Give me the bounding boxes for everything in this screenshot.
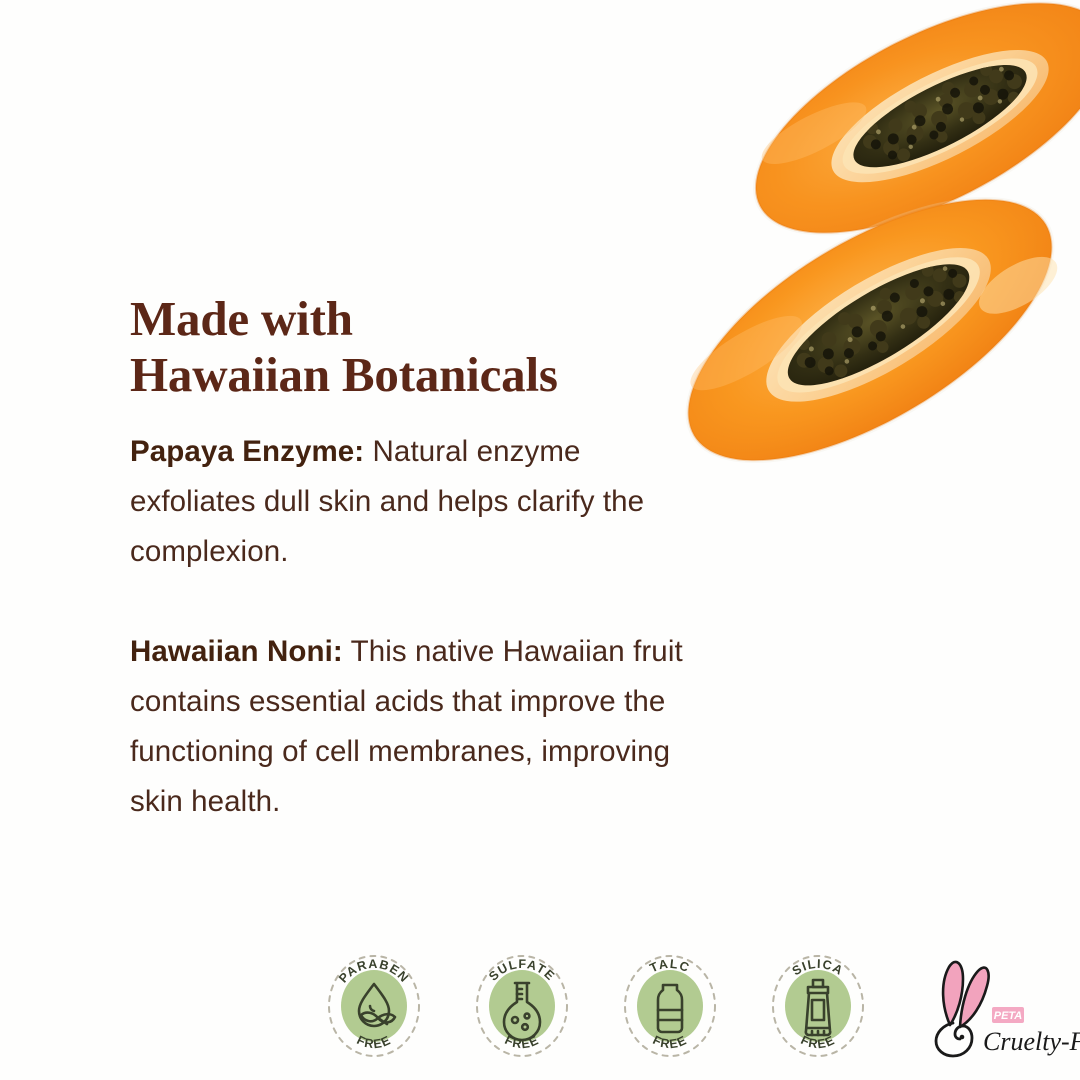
badge-paraben-free: PARABEN FREE [322,944,426,1068]
ingredient-paragraph-noni: Hawaiian Noni: This native Hawaiian frui… [130,627,700,827]
badge-disc [489,970,555,1042]
certification-badge-row: PARABEN FREE [322,944,1080,1068]
bunny-head-icon [936,1023,972,1056]
ingredient-lead-noni: Hawaiian Noni: [130,635,343,668]
headline-line-1: Made with [130,291,730,347]
papaya-photo [680,0,1080,480]
peta-wordmark: Cruelty-Free [983,1027,1080,1056]
headline-line-2: Hawaiian Botanicals [130,347,730,403]
badge-talc-free: TALC FREE [618,944,722,1068]
ingredient-paragraph-papaya: Papaya Enzyme: Natural enzyme exfoliates… [130,427,700,577]
bunny-ears-icon [943,962,988,1027]
badge-disc [341,970,407,1042]
peta-tag-label: PETA [994,1010,1023,1022]
page-title: Made with Hawaiian Botanicals [130,291,730,403]
peta-cruelty-free-logo: PETA Cruelty-Free [920,951,1080,1061]
ingredient-lead-papaya: Papaya Enzyme: [130,435,364,468]
badge-sulfate-free: SULFATE FREE [470,944,574,1068]
ingredient-copy: Papaya Enzyme: Natural enzyme exfoliates… [130,397,700,856]
peta-tag: PETA [992,1007,1024,1023]
poster-canvas: Made with Hawaiian Botanicals Papaya Enz… [0,0,1080,1080]
badge-silica-free: SILICA FREE [766,944,870,1068]
